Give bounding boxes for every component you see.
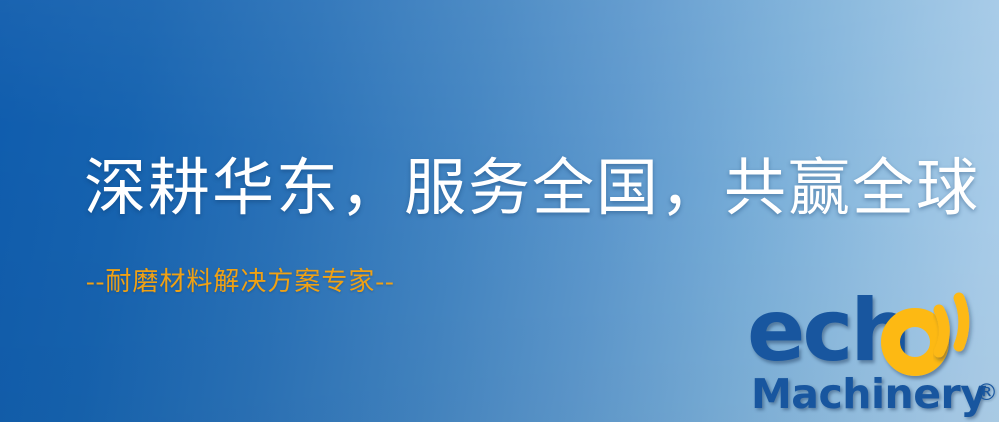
logo-wordmark-row: ech (747, 294, 999, 376)
banner-subtitle: --耐磨材料解决方案专家-- (86, 266, 395, 298)
logo-tagline-text: Machinery (751, 372, 986, 416)
registered-trademark-icon: ® (975, 382, 998, 405)
hero-banner: 深耕华东，服务全国，共赢全球 --耐磨材料解决方案专家-- ech (0, 0, 999, 422)
echo-machinery-logo[interactable]: ech Machinery ® (747, 294, 999, 422)
banner-headline: 深耕华东，服务全国，共赢全球 (84, 150, 980, 228)
signal-waves-icon (933, 290, 999, 366)
